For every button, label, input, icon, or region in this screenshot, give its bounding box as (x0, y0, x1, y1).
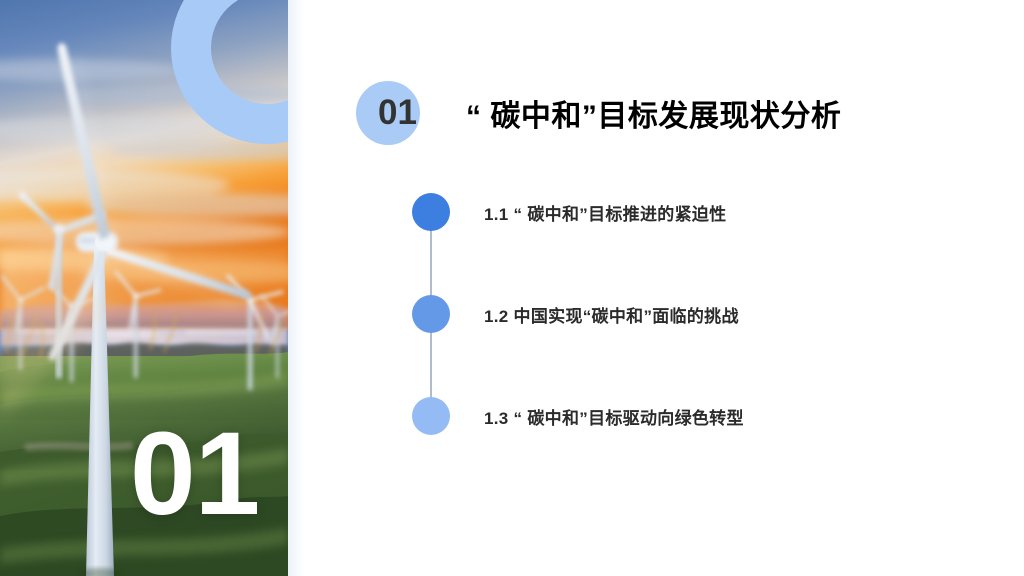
section-title-row: 01 “ 碳中和”目标发展现状分析 (356, 80, 841, 146)
list-item[interactable]: 1.1 “ 碳中和”目标推进的紧迫性 (412, 190, 972, 234)
section-number-label: 01 (378, 93, 417, 133)
list-item[interactable]: 1.2 中国实现“碳中和”面临的挑战 (412, 292, 972, 336)
list-item-label: 1.3 “ 碳中和”目标驱动向绿色转型 (484, 404, 744, 429)
page-title: “ 碳中和”目标发展现状分析 (466, 91, 841, 135)
content-area: 01 “ 碳中和”目标发展现状分析 1.1 “ 碳中和”目标推进的紧迫性 1.2… (288, 0, 1024, 576)
timeline-dot-1 (412, 193, 450, 231)
timeline-dot-2 (412, 295, 450, 333)
photo-section-number: 01 (130, 415, 259, 533)
hero-photo-panel: 01 (0, 0, 288, 576)
list-item[interactable]: 1.3 “ 碳中和”目标驱动向绿色转型 (412, 394, 972, 438)
list-item-label: 1.2 中国实现“碳中和”面临的挑战 (484, 302, 739, 327)
timeline-dot-3 (412, 397, 450, 435)
slide-root: 01 01 “ 碳中和”目标发展现状分析 1.1 “ 碳中和”目标推进的紧迫性 … (0, 0, 1024, 576)
agenda-timeline: 1.1 “ 碳中和”目标推进的紧迫性 1.2 中国实现“碳中和”面临的挑战 1.… (412, 190, 972, 438)
list-item-label: 1.1 “ 碳中和”目标推进的紧迫性 (484, 200, 726, 225)
